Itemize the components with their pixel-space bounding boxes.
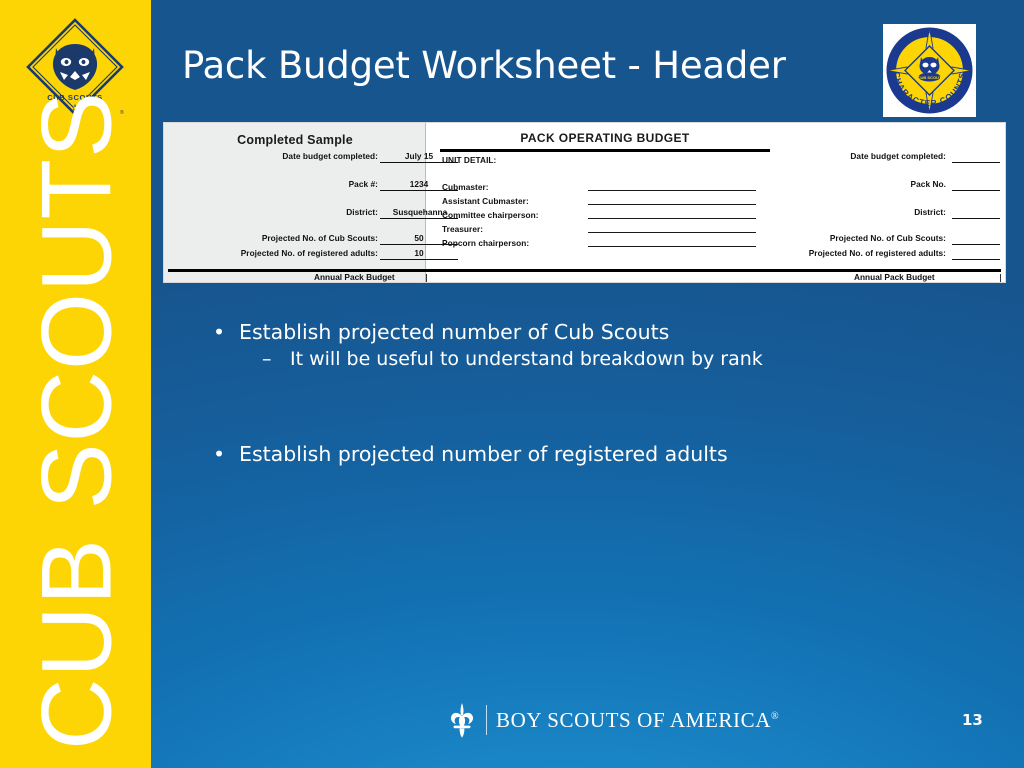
- pack-operating-budget-heading: PACK OPERATING BUDGET: [440, 131, 770, 145]
- right-rule-adults: [952, 259, 1000, 260]
- field-label-popcorn-chairperson: Popcorn chairperson:: [442, 238, 529, 248]
- right-rule-pack-no: [952, 190, 1000, 191]
- sample-label-adults: Projected No. of registered adults:: [166, 248, 378, 258]
- sub-bullet-marker: –: [262, 348, 272, 372]
- character-counts-emblem: CUB SCOUT CHARACTER COUNTS TRUSTWORTHY S…: [883, 24, 976, 117]
- footer-brand-text: BOY SCOUTS OF AMERICA®: [496, 708, 779, 733]
- pack-budget-form-image: Completed Sample Date budget completed: …: [163, 122, 1006, 283]
- bullet-item-1: • Establish projected number of Cub Scou…: [205, 320, 925, 346]
- field-label-assistant-cubmaster: Assistant Cubmaster:: [442, 196, 529, 206]
- svg-text:®: ®: [120, 109, 124, 116]
- footer-trademark: ®: [771, 711, 779, 722]
- form-cropped-next-row: Annual Pack Budget Annual Pack Budget: [164, 274, 1005, 282]
- sidebar-wordmark-text: CUB SCOUTS: [26, 91, 125, 750]
- cropped-row-divider-left: [426, 274, 427, 282]
- bullet-text-1: Establish projected number of Cub Scouts: [239, 320, 669, 344]
- emblem-center-label: CUB SCOUT: [918, 75, 942, 80]
- sample-label-district: District:: [170, 207, 378, 217]
- field-label-committee-chairperson: Committee chairperson:: [442, 210, 539, 220]
- slide-page-number: 13: [962, 711, 983, 729]
- footer-divider: [486, 705, 487, 735]
- right-label-pack-no: Pack No.: [724, 179, 946, 189]
- bullet-marker: •: [213, 320, 225, 346]
- sample-label-date: Date budget completed:: [170, 151, 378, 161]
- bullet-spacer: [205, 371, 925, 442]
- right-rule-district: [952, 218, 1000, 219]
- slide-sidebar: CUB SCOUTS ® CUB SCOUTS: [0, 0, 151, 768]
- form-bottom-rule: [168, 269, 1001, 272]
- field-label-treasurer: Treasurer:: [442, 224, 483, 234]
- cropped-row-label-right: Annual Pack Budget: [854, 274, 935, 282]
- right-label-cub-scouts: Projected No. of Cub Scouts:: [724, 233, 946, 243]
- bullet-item-2: • Establish projected number of register…: [205, 442, 925, 468]
- bullet-text-2: Establish projected number of registered…: [239, 442, 728, 466]
- presentation-slide: CUB SCOUTS ® CUB SCOUTS Pack Budget Work…: [0, 0, 1024, 768]
- field-rule-committee-chairperson: [588, 218, 756, 219]
- field-rule-popcorn-chairperson: [588, 246, 756, 247]
- sample-label-cub-scouts: Projected No. of Cub Scouts:: [170, 233, 378, 243]
- slide-body-bullets: • Establish projected number of Cub Scou…: [205, 320, 925, 470]
- field-label-cubmaster: Cubmaster:: [442, 182, 489, 192]
- field-rule-assistant-cubmaster: [588, 204, 756, 205]
- cub-scouts-diamond-logo: CUB SCOUTS ®: [22, 14, 128, 120]
- right-label-date: Date budget completed:: [724, 151, 946, 161]
- logo-wordmark: CUB SCOUTS: [47, 93, 103, 102]
- page-title: Pack Budget Worksheet - Header: [182, 44, 862, 88]
- sample-label-pack: Pack #:: [170, 179, 378, 189]
- unit-detail-label: UNIT DETAIL:: [442, 155, 496, 165]
- cropped-row-label-left: Annual Pack Budget: [314, 274, 395, 282]
- sub-bullet-text-1: It will be useful to understand breakdow…: [290, 348, 763, 370]
- bsa-footer-logo: BOY SCOUTS OF AMERICA®: [447, 700, 779, 740]
- right-rule-cub-scouts: [952, 244, 1000, 245]
- right-label-district: District:: [724, 207, 946, 217]
- fleur-de-lis-icon: [447, 701, 477, 739]
- sub-bullet-item-1: – It will be useful to understand breakd…: [205, 348, 925, 372]
- right-label-adults: Projected No. of registered adults:: [720, 248, 946, 258]
- sample-rule-adults: [380, 259, 458, 260]
- sample-value-adults: 10: [380, 248, 458, 258]
- cropped-row-divider-right: [1000, 274, 1001, 282]
- heading-underline: [440, 149, 770, 152]
- right-rule-date: [952, 162, 1000, 163]
- field-rule-cubmaster: [588, 190, 756, 191]
- bullet-marker: •: [213, 442, 225, 468]
- footer-brand-label: BOY SCOUTS OF AMERICA: [496, 708, 771, 732]
- completed-sample-heading: Completed Sample: [164, 133, 426, 147]
